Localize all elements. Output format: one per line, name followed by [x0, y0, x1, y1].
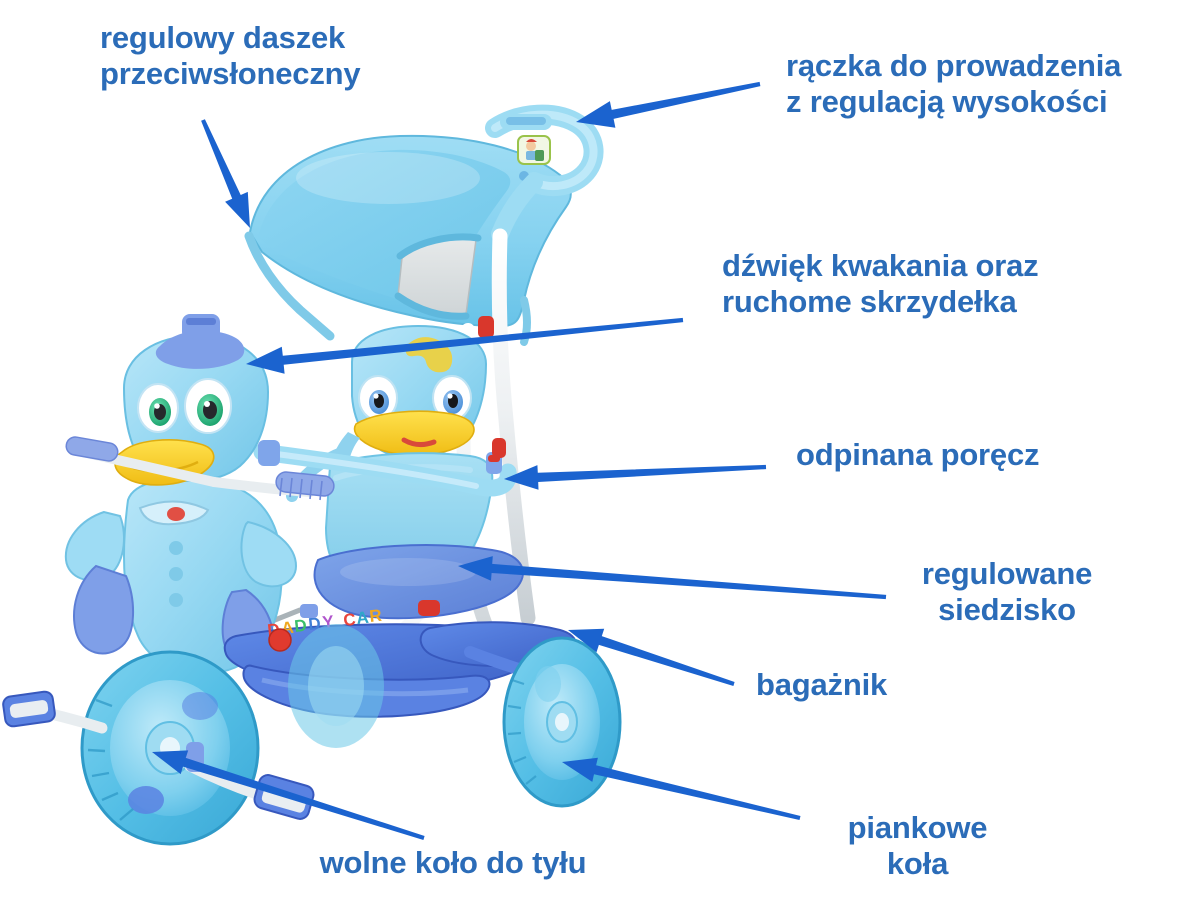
sun-canopy	[249, 136, 571, 342]
annotation-label-seat: regulowane siedzisko	[872, 556, 1142, 629]
product-annotation-diagram: D A D D Y C A R	[0, 0, 1200, 900]
annotation-label-free-wheel: wolne koło do tyłu	[258, 845, 648, 881]
annotation-label-handle: rączka do prowadzenia z regulacją wysoko…	[786, 48, 1186, 121]
svg-text:A: A	[355, 608, 369, 628]
annotation-label-handrail: odpinana poręcz	[796, 437, 1116, 473]
annotation-label-sound-wings: dźwięk kwakania oraz ruchome skrzydełka	[722, 248, 1142, 321]
annotation-label-canopy: regulowy daszek przeciwsłoneczny	[100, 20, 500, 93]
front-wheel	[82, 652, 258, 844]
rear-wheel	[504, 638, 620, 806]
annotation-label-basket: bagażnik	[756, 667, 986, 703]
annotation-label-foam-wheels: piankowe koła	[810, 810, 1025, 883]
svg-text:D: D	[293, 616, 307, 636]
hidden-rear-wheel	[288, 624, 384, 748]
handle-sticker	[518, 136, 550, 164]
front-duck-figure	[66, 314, 296, 674]
svg-text:R: R	[368, 606, 382, 626]
